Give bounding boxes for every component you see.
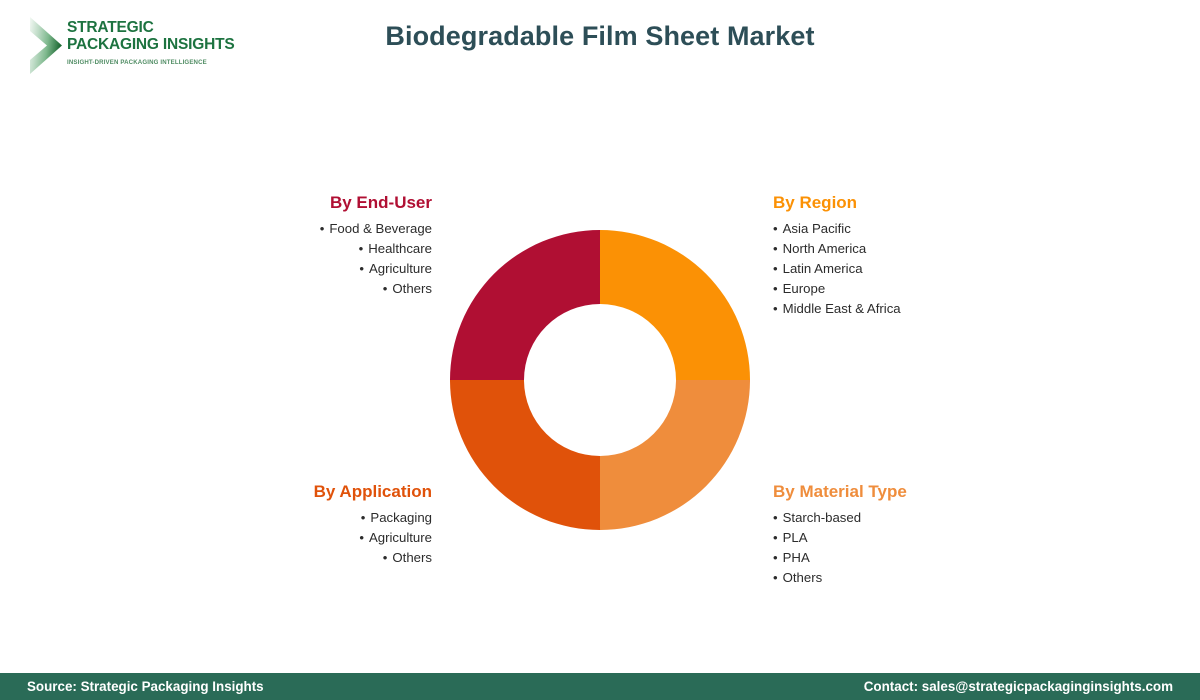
segment-list-end-user: Food & Beverage Healthcare Agriculture O… xyxy=(240,219,432,299)
list-item: Agriculture xyxy=(240,259,432,279)
footer-source: Source: Strategic Packaging Insights xyxy=(27,679,264,694)
donut-slice-region xyxy=(600,230,750,380)
segment-heading-region: By Region xyxy=(773,193,1033,213)
donut-slice-material-type xyxy=(600,380,750,530)
segment-heading-end-user: By End-User xyxy=(240,193,432,213)
list-item: PHA xyxy=(773,548,1033,568)
list-item: PLA xyxy=(773,528,1033,548)
list-item: Starch-based xyxy=(773,508,1033,528)
list-item: Others xyxy=(240,279,432,299)
segment-block-region: By Region Asia Pacific North America Lat… xyxy=(773,193,1033,319)
footer-bar: Source: Strategic Packaging Insights Con… xyxy=(0,673,1200,700)
page-title: Biodegradable Film Sheet Market xyxy=(0,21,1200,52)
segment-heading-material-type: By Material Type xyxy=(773,482,1033,502)
donut-slice-application xyxy=(450,380,600,530)
segment-list-region: Asia Pacific North America Latin America… xyxy=(773,219,1033,319)
list-item: Middle East & Africa xyxy=(773,299,1033,319)
logo-tagline: INSIGHT-DRIVEN PACKAGING INTELLIGENCE xyxy=(67,59,267,66)
list-item: North America xyxy=(773,239,1033,259)
segment-block-material-type: By Material Type Starch-based PLA PHA Ot… xyxy=(773,482,1033,588)
segment-list-application: Packaging Agriculture Others xyxy=(240,508,432,568)
list-item: Others xyxy=(773,568,1033,588)
segment-list-material-type: Starch-based PLA PHA Others xyxy=(773,508,1033,588)
segment-heading-application: By Application xyxy=(240,482,432,502)
segment-block-end-user: By End-User Food & Beverage Healthcare A… xyxy=(240,193,432,299)
segment-block-application: By Application Packaging Agriculture Oth… xyxy=(240,482,432,568)
list-item: Agriculture xyxy=(240,528,432,548)
donut-slice-end-user xyxy=(450,230,600,380)
list-item: Packaging xyxy=(240,508,432,528)
list-item: Others xyxy=(240,548,432,568)
list-item: Healthcare xyxy=(240,239,432,259)
list-item: Asia Pacific xyxy=(773,219,1033,239)
list-item: Food & Beverage xyxy=(240,219,432,239)
segmentation-donut-chart xyxy=(450,230,750,530)
footer-contact: Contact: sales@strategicpackaginginsight… xyxy=(864,679,1173,694)
list-item: Latin America xyxy=(773,259,1033,279)
list-item: Europe xyxy=(773,279,1033,299)
